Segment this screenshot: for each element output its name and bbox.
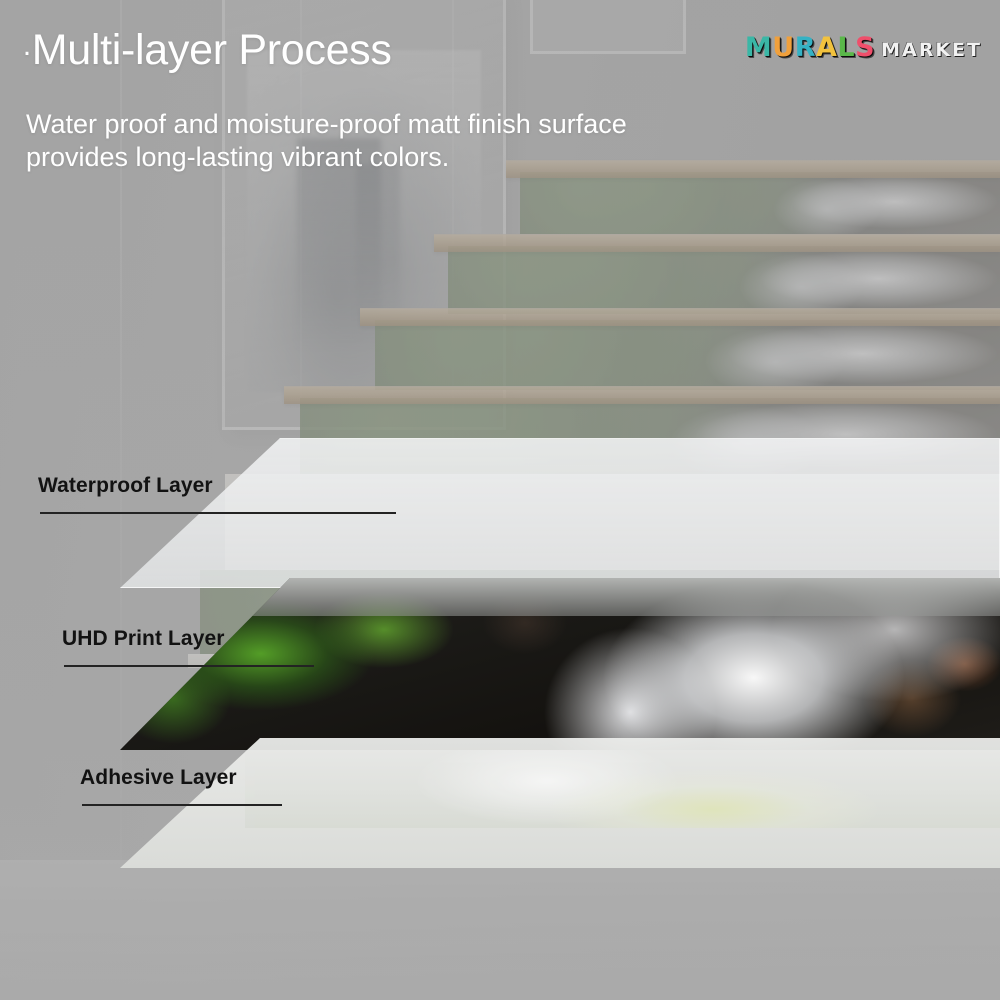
infographic-canvas: Waterproof Layer UHD Print Layer Adhesiv… bbox=[0, 0, 1000, 1000]
layer-label-waterproof: Waterproof Layer bbox=[38, 474, 213, 498]
logo-letter-u-1: U bbox=[772, 32, 794, 63]
layer-sheet-adhesive[interactable] bbox=[120, 738, 1000, 868]
brand-logo[interactable]: MURALS MARKET bbox=[745, 32, 982, 63]
page-title: ·Multi-layer Process bbox=[22, 26, 392, 75]
title-lead-dot: · bbox=[22, 36, 32, 69]
adhesive-backing-texture bbox=[245, 750, 1000, 828]
layer-label-uhd-print: UHD Print Layer bbox=[62, 627, 225, 651]
logo-murals-wordmark: MURALS bbox=[745, 32, 875, 63]
logo-letter-r-2: R bbox=[795, 32, 816, 63]
page-subtitle: Water proof and moisture-proof matt fini… bbox=[26, 108, 627, 175]
logo-letter-s-5: S bbox=[855, 32, 875, 63]
logo-letter-a-3: A bbox=[816, 32, 837, 63]
logo-market-wordmark: MARKET bbox=[881, 39, 982, 61]
layer-rule-uhd-print bbox=[64, 665, 314, 667]
layer-rule-waterproof bbox=[40, 512, 396, 514]
layer-rule-adhesive bbox=[82, 804, 282, 806]
title-text: Multi-layer Process bbox=[32, 26, 392, 74]
logo-letter-m-0: M bbox=[745, 32, 772, 63]
layer-label-adhesive: Adhesive Layer bbox=[80, 766, 237, 790]
logo-letter-l-4: L bbox=[837, 32, 855, 63]
